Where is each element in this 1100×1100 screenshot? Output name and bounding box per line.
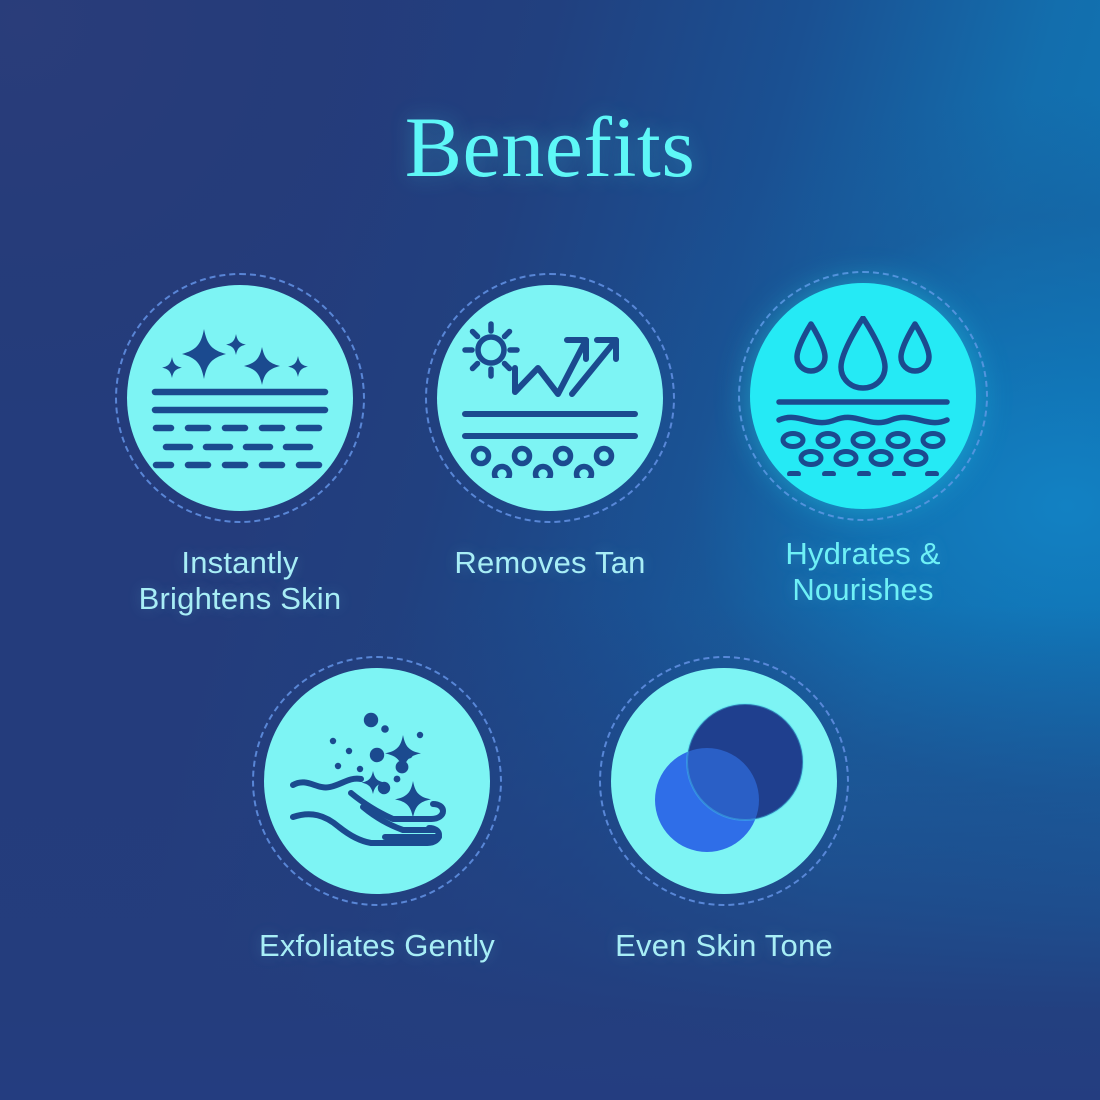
icon-disc xyxy=(611,668,837,894)
benefit-badge xyxy=(127,285,353,511)
icon-disc xyxy=(437,285,663,511)
water-droplets-skin-icon xyxy=(775,316,951,476)
icon-disc xyxy=(750,283,976,509)
benefit-label: Removes Tan xyxy=(420,545,680,581)
benefit-badge xyxy=(264,668,490,894)
sun-uv-arrows-skin-icon xyxy=(460,318,640,478)
icon-disc xyxy=(127,285,353,511)
benefit-item-instantly-brightens-skin: Instantly Brightens Skin xyxy=(110,285,370,617)
page-title: Benefits xyxy=(0,104,1100,190)
benefit-label: Even Skin Tone xyxy=(594,928,854,964)
benefit-label: Instantly Brightens Skin xyxy=(110,545,370,617)
hand-scrub-particles-icon xyxy=(289,693,465,869)
benefit-badge xyxy=(611,668,837,894)
benefit-item-hydrates-and-nourishes: Hydrates & Nourishes xyxy=(733,283,993,608)
overlapping-tone-circles-icon xyxy=(629,686,819,876)
benefit-item-even-skin-tone: Even Skin Tone xyxy=(594,668,854,964)
icon-disc xyxy=(264,668,490,894)
sparkles-skin-layers-icon xyxy=(150,323,330,473)
benefit-label: Exfoliates Gently xyxy=(247,928,507,964)
benefit-badge xyxy=(437,285,663,511)
benefits-infographic: Benefits xyxy=(0,0,1100,1100)
benefit-item-removes-tan: Removes Tan xyxy=(420,285,680,581)
benefit-label: Hydrates & Nourishes xyxy=(733,536,993,608)
benefit-item-exfoliates-gently: Exfoliates Gently xyxy=(247,668,507,964)
benefit-badge xyxy=(750,283,976,509)
